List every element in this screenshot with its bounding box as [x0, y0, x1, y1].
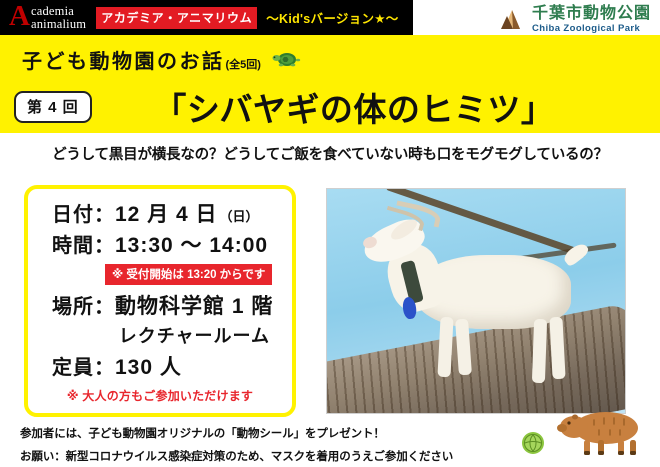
footer-line-1: 参加者には、子ども動物園オリジナルの「動物シール」をプレゼント！	[20, 425, 490, 441]
mountain-tree-icon	[500, 5, 528, 36]
series-heading: 子ども動物園のお話 (全5回)	[22, 45, 301, 74]
academia-animalium-logo: A cademia animalium	[9, 4, 86, 31]
date-weekday: （日）	[220, 206, 259, 225]
place-value-second-line: レクチャールーム	[28, 322, 292, 348]
place-value: 動物科学館 1 階	[115, 290, 273, 320]
footer-illustrations	[520, 406, 650, 461]
episode-row: 第 4 回 「シバヤギの体のヒミツ」	[14, 83, 646, 131]
series-episode-count: (全5回)	[226, 56, 261, 72]
title-banner: 子ども動物園のお話 (全5回) 第 4 回 「シバヤギの体のヒミツ」	[0, 35, 660, 133]
logo-line-1: cademia	[31, 5, 86, 18]
chiba-zoo-text: 千葉市動物公園 Chiba Zoological Park	[532, 6, 651, 34]
detail-row-time: 時間： 13:30 〜 14:00	[28, 229, 292, 259]
detail-row-capacity: 定員： 130 人	[28, 351, 292, 381]
adults-welcome-note: ※ 大人の方もご参加いただけます	[28, 387, 292, 404]
event-details-box: 日付： 12 月 4 日 （日） 時間： 13:30 〜 14:00 ※ 受付開…	[24, 185, 296, 417]
cabbage-icon	[520, 430, 546, 461]
episode-title: 「シバヤギの体のヒミツ」	[62, 83, 646, 131]
top-header-bar: A cademia animalium アカデミア・アニマリウム ～Kid'sバ…	[0, 0, 413, 35]
time-value: 13:30 〜 14:00	[115, 229, 268, 259]
question-text: どうして黒目が横長なの？どうしてご飯を食べていない時も口をモグモグしているの？	[0, 143, 660, 164]
capybara-icon	[554, 406, 650, 461]
logo-initial-a: A	[9, 2, 30, 31]
series-title: 子ども動物園のお話	[22, 45, 225, 74]
date-value: 12 月 4 日	[115, 198, 218, 228]
capacity-label: 定員：	[52, 351, 115, 380]
shiba-goat-photo	[326, 188, 626, 414]
turtle-icon	[271, 51, 301, 72]
time-label: 時間：	[52, 229, 115, 258]
chiba-zoo-name-en: Chiba Zoological Park	[532, 24, 651, 34]
reception-start-note: ※ 受付開始は 13:20 からです	[105, 264, 272, 285]
chiba-zoo-name-jp: 千葉市動物公園	[532, 6, 651, 22]
date-label: 日付：	[52, 198, 115, 227]
place-label: 場所：	[52, 290, 115, 319]
capacity-value: 130 人	[115, 351, 182, 381]
goat-leg-rear-left	[532, 319, 547, 383]
chiba-zoo-logo: 千葉市動物公園 Chiba Zoological Park	[500, 3, 651, 36]
kids-version-label: ～Kid'sバージョン★～	[266, 8, 398, 27]
footer-notes: 参加者には、子ども動物園オリジナルの「動物シール」をプレゼント！ お願い：新型コ…	[20, 425, 490, 467]
logo-line-2: animalium	[31, 18, 86, 31]
detail-row-place: 場所： 動物科学館 1 階	[28, 290, 292, 320]
brand-katakana-chip: アカデミア・アニマリウム	[96, 7, 257, 29]
detail-row-date: 日付： 12 月 4 日 （日）	[28, 198, 292, 228]
logo-wordmark: cademia animalium	[31, 5, 86, 30]
footer-line-2: お願い：新型コロナウイルス感染症対策のため、マスクを着用のうえご参加ください	[20, 448, 490, 464]
